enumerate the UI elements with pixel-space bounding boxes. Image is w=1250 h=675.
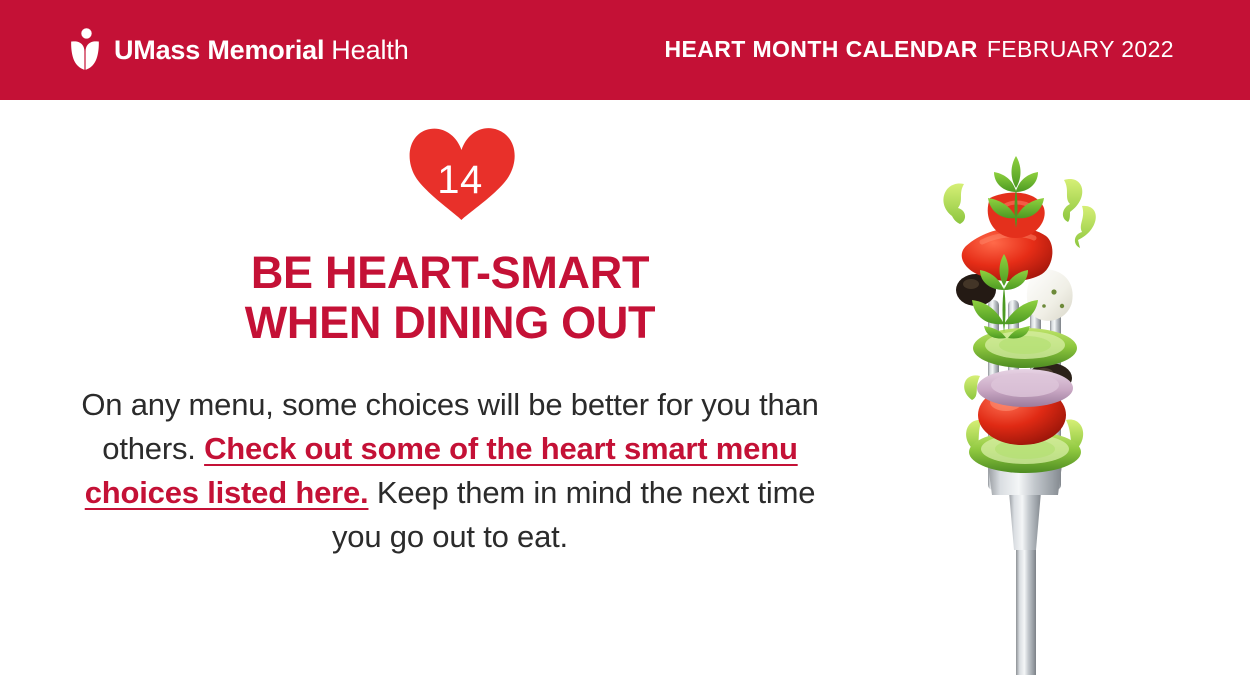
day-badge: 14	[406, 126, 518, 222]
header-title: HEART MONTH CALENDAR FEBRUARY 2022	[664, 36, 1174, 63]
logo-text-bold: UMass Memorial	[114, 35, 324, 66]
page-title-line-2: WHEN DINING OUT	[0, 298, 900, 348]
umass-tulip-logo-icon	[70, 28, 100, 72]
brand-logo[interactable]: UMass Memorial Health	[70, 28, 409, 72]
body-text-outro: Keep them in mind the next time you go o…	[332, 475, 815, 554]
page-title: BE HEART-SMART WHEN DINING OUT	[0, 248, 900, 347]
header-title-bold: HEART MONTH CALENDAR	[664, 36, 977, 63]
main-content: BE HEART-SMART WHEN DINING OUT On any me…	[0, 248, 900, 559]
body-paragraph: On any menu, some choices will be better…	[0, 383, 900, 559]
salad-on-fork-photo	[930, 150, 1120, 675]
heart-month-calendar-slide: UMass Memorial Health HEART MONTH CALEND…	[0, 0, 1250, 675]
day-number: 14	[406, 160, 514, 200]
header-title-date: FEBRUARY 2022	[987, 36, 1174, 63]
page-title-line-1: BE HEART-SMART	[0, 248, 900, 298]
logo-text-light: Health	[331, 35, 408, 66]
header-band: UMass Memorial Health HEART MONTH CALEND…	[0, 0, 1250, 100]
